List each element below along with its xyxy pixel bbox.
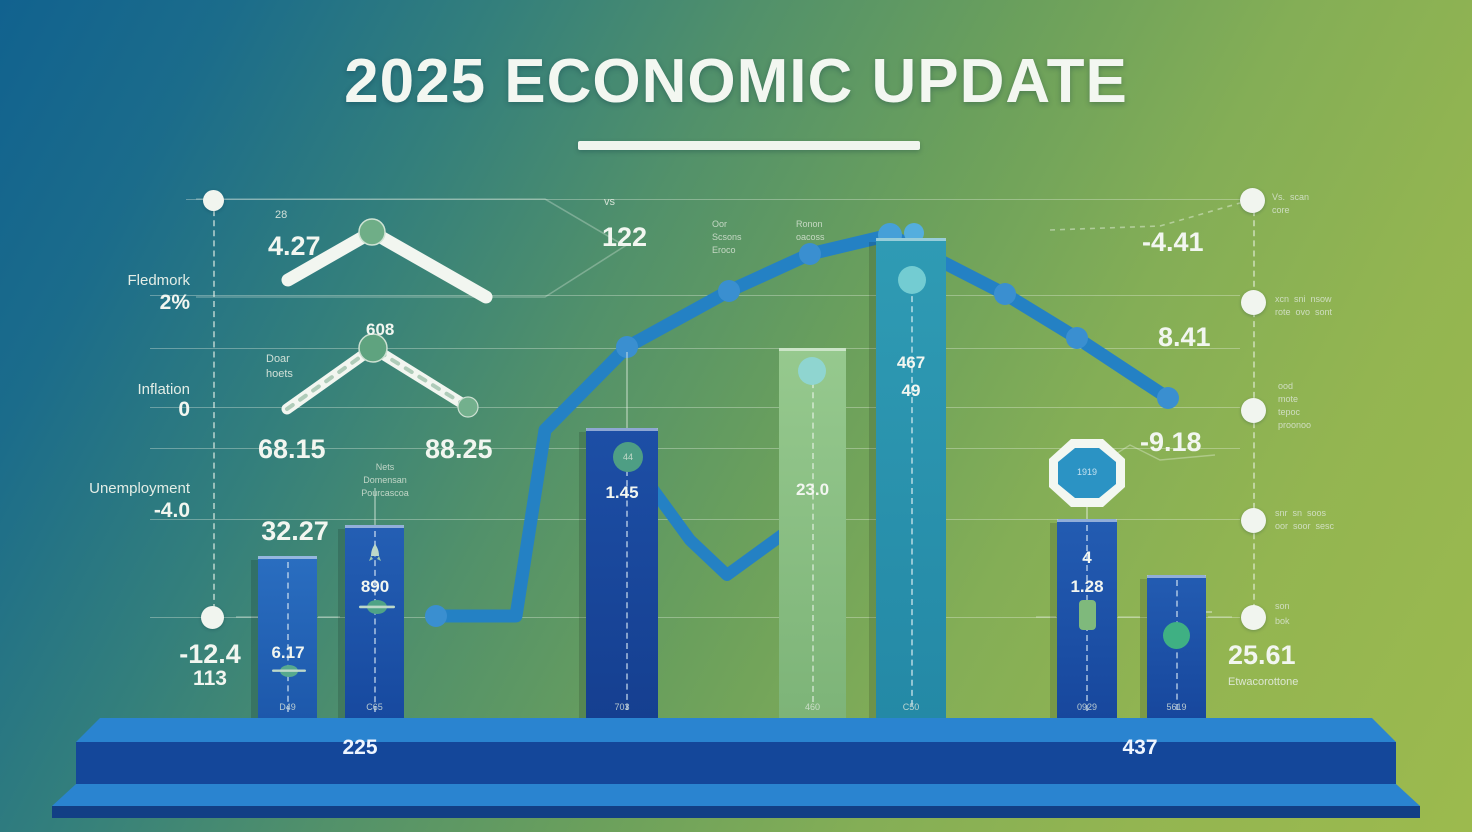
infographic-canvas: 2025 ECONOMIC UPDATE (0, 0, 1472, 832)
platform-3d (0, 0, 1472, 832)
platform-label-right: 437 (1070, 736, 1210, 761)
platform-label-left: 225 (290, 736, 430, 761)
